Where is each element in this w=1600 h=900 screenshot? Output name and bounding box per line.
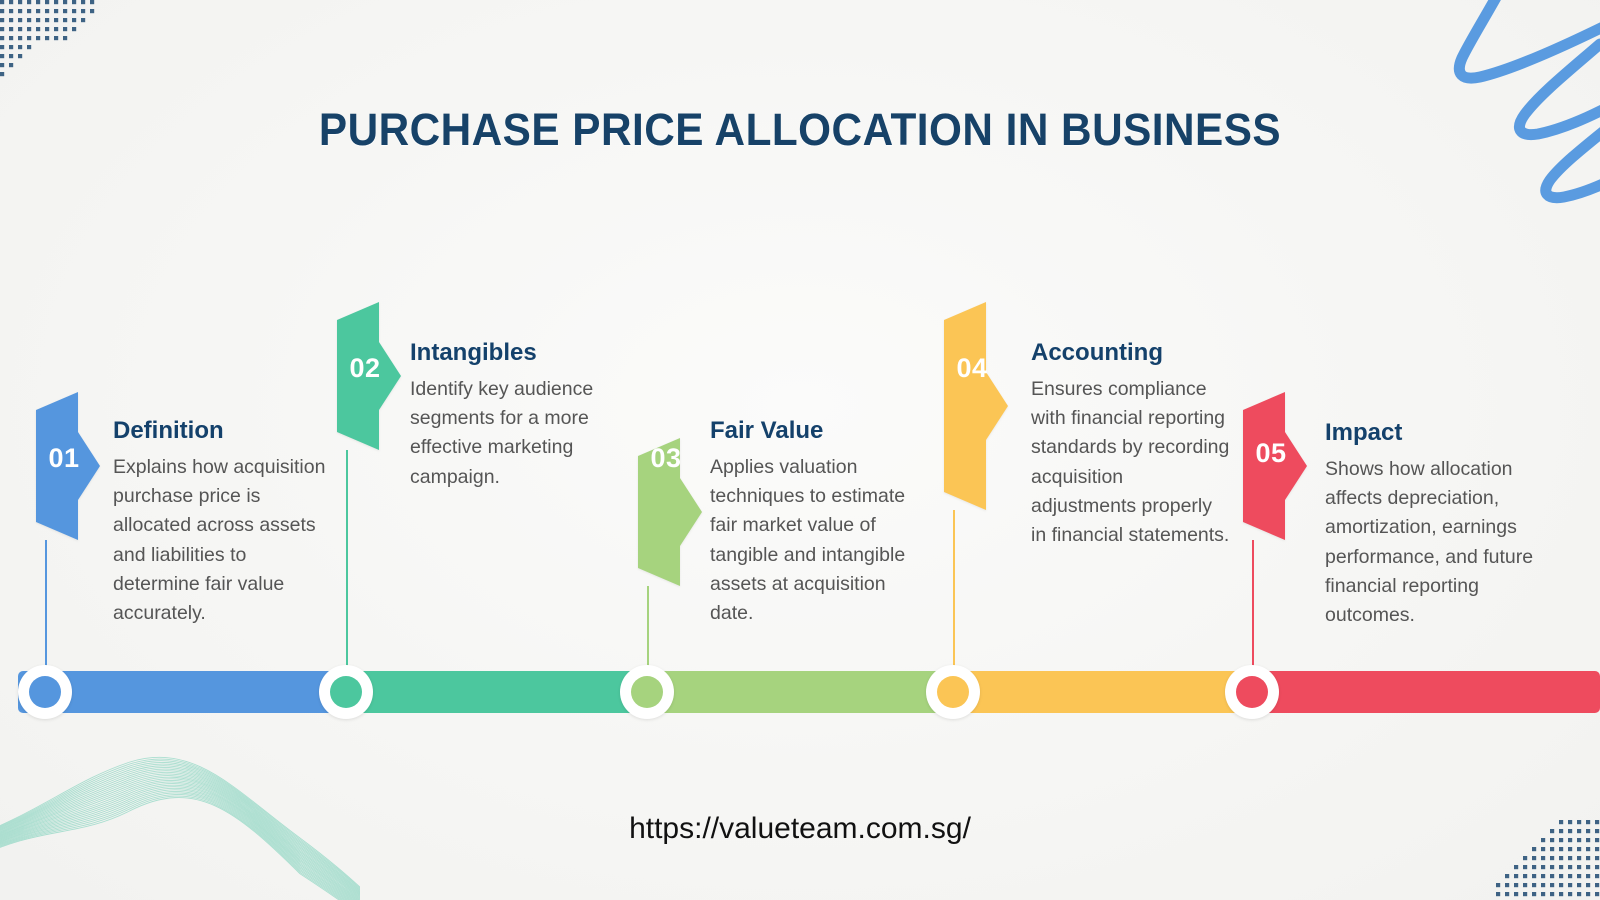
step-title-03: Fair Value [710, 418, 925, 444]
step-content-02: IntangiblesIdentify key audience segment… [410, 340, 615, 492]
timeline-node-dot [937, 676, 969, 708]
timeline-node-dot [1236, 676, 1268, 708]
step-number-02: 02 [337, 355, 393, 382]
timeline-segment-05 [1252, 671, 1600, 713]
step-description-01: Explains how acquisition purchase price … [113, 453, 328, 627]
timeline-segment-03 [647, 671, 953, 713]
step-content-04: AccountingEnsures compliance with financ… [1031, 340, 1231, 550]
step-description-03: Applies valuation techniques to estimate… [710, 453, 925, 627]
timeline-node-dot [631, 676, 663, 708]
step-number-05: 05 [1243, 440, 1299, 467]
step-title-01: Definition [113, 418, 328, 444]
timeline-node-03[interactable] [620, 665, 674, 719]
timeline-node-dot [330, 676, 362, 708]
step-description-05: Shows how allocation affects depreciatio… [1325, 455, 1540, 629]
timeline-node-01[interactable] [18, 665, 72, 719]
timeline-node-dot [29, 676, 61, 708]
wave-lines-icon [0, 720, 360, 900]
dot-grid-icon [0, 0, 120, 120]
source-url: https://valueteam.com.sg/ [0, 812, 1600, 846]
step-arrow-04 [944, 302, 1008, 510]
timeline-bar [0, 671, 1600, 713]
step-description-02: Identify key audience segments for a mor… [410, 375, 615, 491]
timeline-segment-02 [346, 671, 647, 713]
step-number-04: 04 [944, 355, 1000, 382]
step-title-05: Impact [1325, 420, 1540, 446]
step-number-03: 03 [638, 445, 694, 472]
timeline-node-04[interactable] [926, 665, 980, 719]
timeline-node-02[interactable] [319, 665, 373, 719]
infographic-canvas: PURCHASE PRICE ALLOCATION IN BUSINESS 01… [0, 0, 1600, 900]
step-title-02: Intangibles [410, 340, 615, 366]
timeline-node-05[interactable] [1225, 665, 1279, 719]
step-content-03: Fair ValueApplies valuation techniques t… [710, 418, 925, 628]
step-title-04: Accounting [1031, 340, 1231, 366]
step-number-01: 01 [36, 445, 92, 472]
step-description-04: Ensures compliance with financial report… [1031, 375, 1231, 549]
step-content-01: DefinitionExplains how acquisition purch… [113, 418, 328, 628]
timeline-segment-04 [953, 671, 1252, 713]
page-title: PURCHASE PRICE ALLOCATION IN BUSINESS [48, 104, 1552, 156]
step-connector-02 [346, 450, 348, 692]
step-content-05: ImpactShows how allocation affects depre… [1325, 420, 1540, 630]
